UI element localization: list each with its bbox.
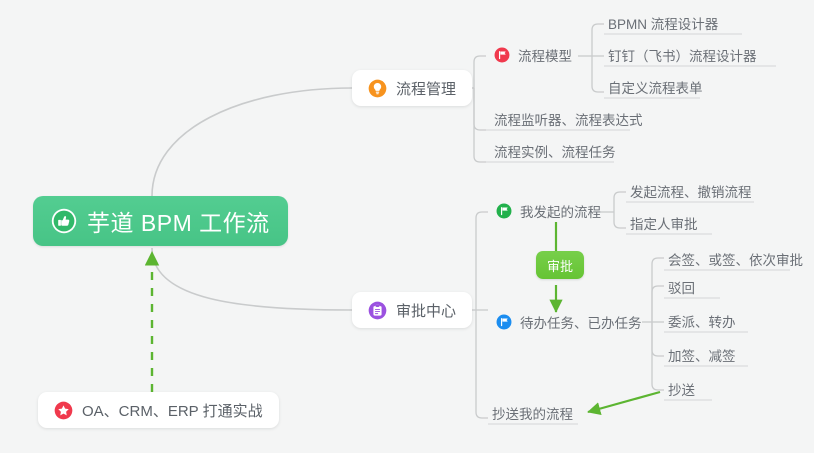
clipboard-icon	[368, 301, 387, 320]
approval-pill[interactable]: 审批	[536, 251, 584, 279]
edge-mine-to-start-cancel	[614, 192, 626, 212]
node-custom-process-form[interactable]: 自定义流程表单	[604, 74, 708, 100]
node-assignee-approval[interactable]: 指定人审批	[626, 210, 703, 236]
node-label-add-remove-sign: 加签、减签	[668, 345, 736, 365]
integration-card[interactable]: OA、CRM、ERP 打通实战	[38, 392, 279, 428]
edge-todo-to-cc	[652, 322, 664, 390]
node-label-process-listener-expression: 流程监听器、流程表达式	[494, 109, 643, 129]
edge-todo-to-addsign	[652, 322, 664, 356]
node-label-reject: 驳回	[668, 277, 695, 297]
node-label-dingtalk-feishu-designer: 钉钉（飞书）流程设计器	[608, 45, 757, 65]
edge-root-to-process-management	[152, 88, 352, 196]
node-label-bpmn-designer: BPMN 流程设计器	[608, 13, 718, 33]
node-label-process-model: 流程模型	[518, 45, 572, 65]
root-node[interactable]: 芋道 BPM 工作流	[33, 196, 288, 246]
lightbulb-icon	[368, 79, 387, 98]
branch-node-approval-center[interactable]: 审批中心	[352, 292, 472, 328]
node-label-cc-to-me-process: 抄送我的流程	[492, 403, 573, 423]
edge-ac-to-my-initiated	[476, 212, 488, 310]
node-label-delegate-transfer: 委派、转办	[668, 311, 736, 331]
mindmap-canvas: 芋道 BPM 工作流 流程管理 流程模型 BPMN 流程设计器 钉钉（飞书	[0, 0, 814, 453]
branch-node-process-management[interactable]: 流程管理	[352, 70, 472, 106]
node-dingtalk-feishu-designer[interactable]: 钉钉（飞书）流程设计器	[604, 42, 762, 68]
node-label-carbon-copy: 抄送	[668, 379, 695, 399]
thumbs-up-icon	[51, 208, 77, 234]
flag-icon	[494, 47, 510, 63]
edge-root-to-approval-center	[152, 248, 352, 310]
node-label-countersign-orsign-sequential: 会签、或签、依次审批	[668, 249, 803, 269]
edge-pm-to-instance	[474, 88, 486, 162]
node-label-todo-done-tasks: 待办任务、已办任务	[520, 312, 642, 332]
edge-pm-to-process-model	[474, 56, 486, 88]
node-reject[interactable]: 驳回	[664, 274, 700, 300]
node-label-custom-process-form: 自定义流程表单	[608, 77, 703, 97]
node-countersign-orsign-sequential[interactable]: 会签、或签、依次审批	[664, 246, 808, 272]
node-start-cancel-process[interactable]: 发起流程、撤销流程	[626, 178, 757, 204]
node-label-process-instance-task: 流程实例、流程任务	[494, 141, 616, 161]
branch-label-approval-center: 审批中心	[396, 300, 456, 321]
branch-label-process-management: 流程管理	[396, 78, 456, 99]
integration-card-label: OA、CRM、ERP 打通实战	[82, 400, 263, 421]
node-todo-done-tasks[interactable]: 待办任务、已办任务	[492, 309, 647, 335]
node-label-my-initiated-process: 我发起的流程	[520, 201, 601, 221]
node-delegate-transfer[interactable]: 委派、转办	[664, 308, 741, 334]
edge-model-to-custom-form	[592, 56, 604, 92]
node-carbon-copy[interactable]: 抄送	[664, 376, 700, 402]
flag-icon	[496, 314, 512, 330]
node-process-model[interactable]: 流程模型	[490, 42, 577, 68]
node-bpmn-designer[interactable]: BPMN 流程设计器	[604, 10, 723, 36]
approval-pill-label: 审批	[547, 256, 573, 275]
node-process-listener-expression[interactable]: 流程监听器、流程表达式	[490, 106, 648, 132]
root-label: 芋道 BPM 工作流	[87, 204, 270, 238]
node-cc-to-me-process[interactable]: 抄送我的流程	[488, 400, 578, 426]
edge-model-to-bpmn	[592, 24, 604, 56]
node-label-assignee-approval: 指定人审批	[630, 213, 698, 233]
edge-mine-to-assignee	[614, 212, 626, 228]
node-my-initiated-process[interactable]: 我发起的流程	[492, 198, 606, 224]
edge-pm-to-listener	[474, 88, 486, 130]
edge-todo-to-countersign	[652, 258, 664, 322]
node-label-start-cancel-process: 发起流程、撤销流程	[630, 181, 752, 201]
flag-icon	[496, 203, 512, 219]
edge-ac-to-cc-mine	[476, 310, 488, 418]
node-add-remove-sign[interactable]: 加签、减签	[664, 342, 741, 368]
edge-todo-to-reject	[652, 286, 664, 322]
star-icon	[54, 401, 73, 420]
node-process-instance-task[interactable]: 流程实例、流程任务	[490, 138, 621, 164]
arrow-cc-to-cc-mine	[588, 392, 660, 412]
